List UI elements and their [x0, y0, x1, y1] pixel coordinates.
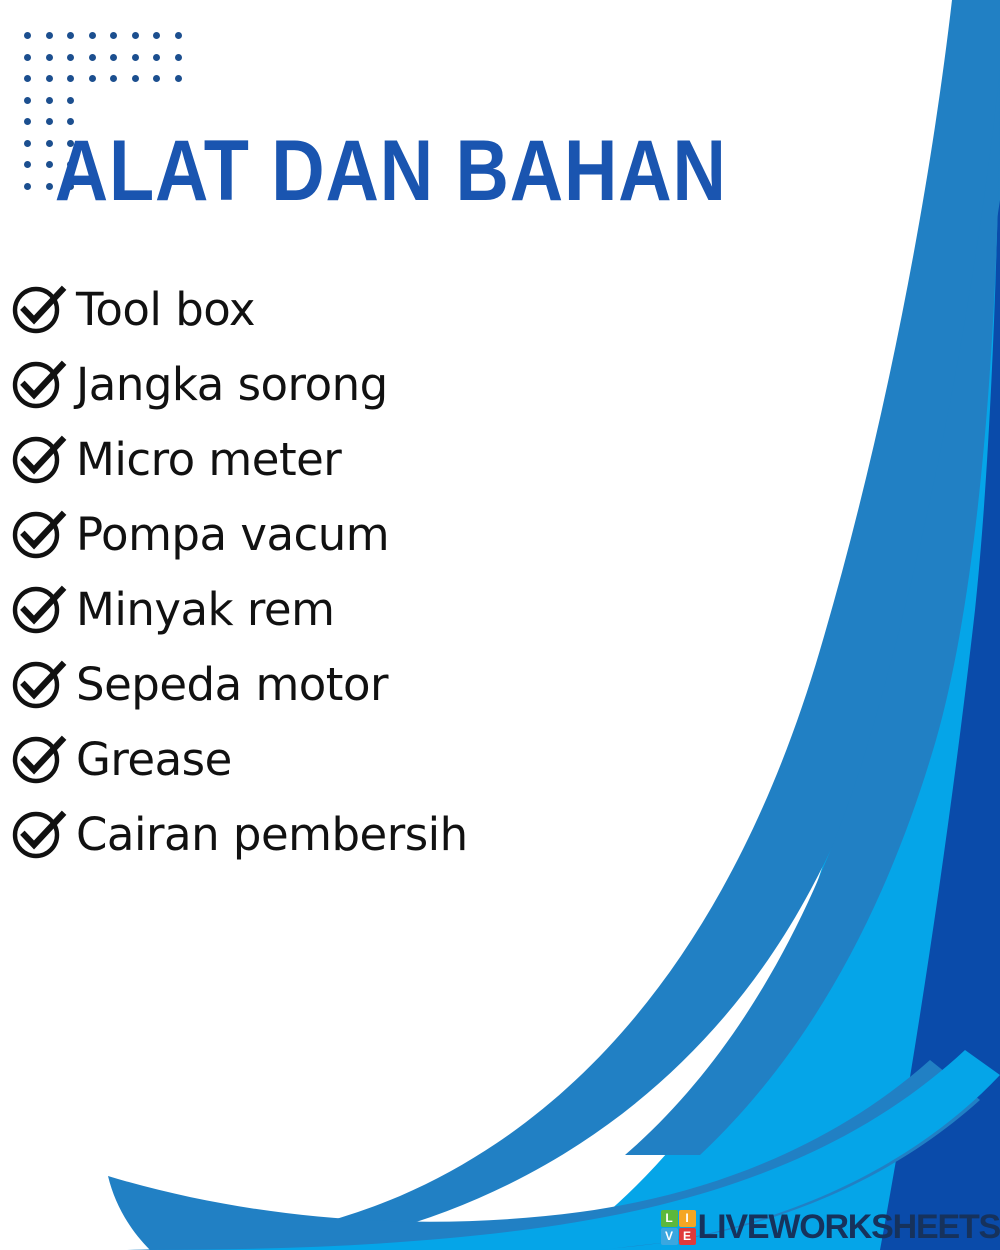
dot: [153, 32, 160, 39]
dot: [175, 75, 182, 82]
logo-tile-l: L: [661, 1210, 678, 1227]
logo-tile-v: V: [661, 1228, 678, 1245]
check-circle-icon: [10, 510, 68, 560]
dot: [89, 75, 96, 82]
dot: [132, 32, 139, 39]
check-circle-icon: [10, 660, 68, 710]
page-title: ALAT DAN BAHAN: [0, 128, 1000, 214]
dot-row: [24, 32, 204, 54]
dot: [46, 118, 53, 125]
logo-tile-e: E: [679, 1228, 696, 1245]
dot: [46, 75, 53, 82]
list-item: Sepeda motor: [10, 647, 710, 722]
materials-checklist: Tool box Jangka sorong Micro meter Pompa…: [10, 272, 710, 872]
check-circle-icon: [10, 360, 68, 410]
list-item: Tool box: [10, 272, 710, 347]
dot: [67, 32, 74, 39]
dot-row: [24, 97, 204, 119]
dot: [153, 54, 160, 61]
list-item-label: Jangka sorong: [76, 362, 388, 407]
dot: [110, 54, 117, 61]
list-item-label: Grease: [76, 737, 232, 782]
dot: [67, 54, 74, 61]
logo-tile-i: I: [679, 1210, 696, 1227]
dot: [175, 54, 182, 61]
dot-row: [24, 75, 204, 97]
check-circle-icon: [10, 285, 68, 335]
list-item-label: Pompa vacum: [76, 512, 389, 557]
check-circle-icon: [10, 585, 68, 635]
list-item-label: Cairan pembersih: [76, 812, 468, 857]
dot-row: [24, 54, 204, 76]
list-item: Minyak rem: [10, 572, 710, 647]
wave-sliver-dark-blue: [893, 10, 1000, 563]
dot: [132, 54, 139, 61]
dot: [67, 75, 74, 82]
liveworksheets-logo-icon: L I V E: [661, 1210, 696, 1245]
list-item: Micro meter: [10, 422, 710, 497]
check-circle-icon: [10, 735, 68, 785]
dot: [132, 75, 139, 82]
dot: [153, 75, 160, 82]
dot: [24, 75, 31, 82]
list-item-label: Tool box: [76, 287, 255, 332]
list-item-label: Micro meter: [76, 437, 341, 482]
list-item-label: Minyak rem: [76, 587, 334, 632]
page-title-text: ALAT DAN BAHAN: [55, 128, 727, 214]
dot: [46, 54, 53, 61]
liveworksheets-watermark: L I V E LIVEWORKSHEETS: [661, 1208, 1000, 1246]
dot: [175, 32, 182, 39]
list-item-label: Sepeda motor: [76, 662, 388, 707]
dot: [24, 54, 31, 61]
dot: [110, 32, 117, 39]
dot: [67, 97, 74, 104]
list-item: Pompa vacum: [10, 497, 710, 572]
dot: [110, 75, 117, 82]
liveworksheets-wordmark: LIVEWORKSHEETS: [698, 1210, 1000, 1244]
list-item: Grease: [10, 722, 710, 797]
list-item: Jangka sorong: [10, 347, 710, 422]
list-item: Cairan pembersih: [10, 797, 710, 872]
worksheet-page: ALAT DAN BAHAN Tool box Jangka sorong Mi…: [0, 0, 1000, 1250]
check-circle-icon: [10, 435, 68, 485]
dot: [24, 32, 31, 39]
dot: [46, 97, 53, 104]
dot: [46, 32, 53, 39]
dot: [24, 97, 31, 104]
dot: [89, 54, 96, 61]
check-circle-icon: [10, 810, 68, 860]
dot: [24, 118, 31, 125]
dot: [89, 32, 96, 39]
